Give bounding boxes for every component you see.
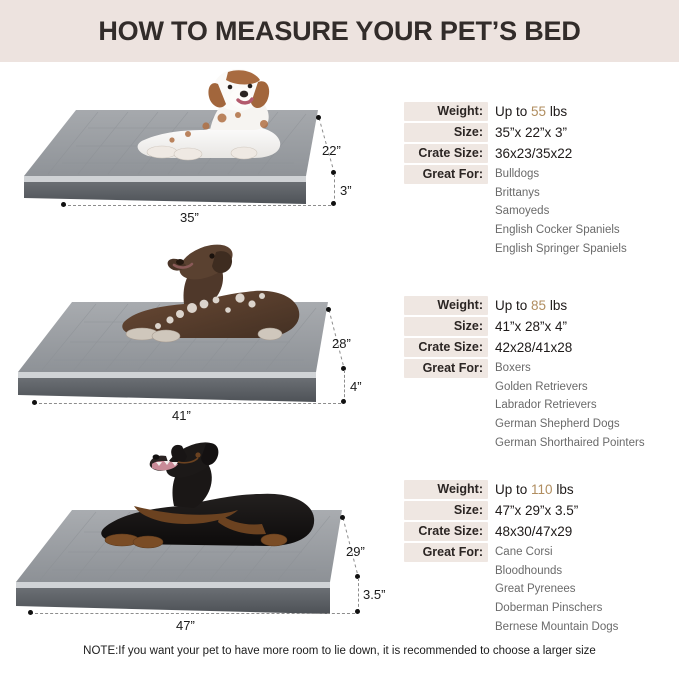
dimension-label-height-3: 3.5” [363, 587, 385, 602]
spec-label-size: Size: [404, 317, 488, 336]
dimension-dot [28, 610, 33, 615]
dimension-line-length-2 [34, 403, 341, 404]
spec-row-size: Size: 35”x 22”x 3” [404, 123, 679, 142]
dimension-label-height-1: 3” [340, 183, 352, 198]
spec-label-weight: Weight: [404, 102, 488, 121]
dimension-label-length-3: 47” [176, 618, 195, 633]
spec-value-crate-size: 36x23/35x22 [488, 144, 572, 163]
spec-row-size: Size: 47”x 29”x 3.5” [404, 501, 679, 520]
spec-row-weight: Weight: Up to 55 lbs [404, 102, 679, 121]
dimension-line-length-1 [63, 205, 331, 206]
weight-value: 85 [531, 298, 546, 313]
spec-value-crate-size: 48x30/47x29 [488, 522, 572, 541]
weight-suffix: lbs [546, 298, 567, 313]
spec-label-size: Size: [404, 501, 488, 520]
dimension-label-length-1: 35” [180, 210, 199, 225]
bed-illustration-1: 22” 3” 35” [0, 66, 400, 242]
weight-value: 55 [531, 104, 546, 119]
bed-size-section-1: 22” 3” 35” Weight: Up to 55 lbs Size: 35… [0, 66, 679, 242]
spec-value-crate-size: 42x28/41x28 [488, 338, 572, 357]
dimension-label-length-2: 41” [172, 408, 191, 423]
breed-item: Bernese Mountain Dogs [495, 618, 618, 637]
spec-value-size: 35”x 22”x 3” [488, 123, 567, 142]
spec-row-crate: Crate Size: 42x28/41x28 [404, 338, 679, 357]
spec-value-size: 41”x 28”x 4” [488, 317, 567, 336]
bed-illustration-2: 28” 4” 41” [0, 234, 400, 424]
dimension-label-height-2: 4” [350, 379, 362, 394]
weight-suffix: lbs [553, 482, 574, 497]
breed-item: Brittanys [495, 184, 627, 203]
spec-row-crate: Crate Size: 36x23/35x22 [404, 144, 679, 163]
spec-label-weight: Weight: [404, 480, 488, 499]
breed-item: Labrador Retrievers [495, 396, 645, 415]
weight-prefix: Up to [495, 104, 531, 119]
page-title: HOW TO MEASURE YOUR PET’S BED [98, 16, 580, 47]
bed-size-section-2: 28” 4” 41” Weight: Up to 85 lbs Size: 41… [0, 234, 679, 424]
bed-illustration-3: 29” 3.5” 47” [0, 424, 400, 638]
breed-item: Great Pyrenees [495, 580, 618, 599]
dimension-dot [341, 399, 346, 404]
spec-label-crate-size: Crate Size: [404, 338, 488, 357]
weight-suffix: lbs [546, 104, 567, 119]
spec-value-weight: Up to 85 lbs [488, 296, 567, 315]
weight-value: 110 [531, 482, 553, 497]
spec-value-weight: Up to 55 lbs [488, 102, 567, 121]
spec-label-size: Size: [404, 123, 488, 142]
weight-prefix: Up to [495, 482, 531, 497]
spec-label-crate-size: Crate Size: [404, 522, 488, 541]
breed-item: Doberman Pinschers [495, 599, 618, 618]
dimension-line-height-3 [358, 578, 359, 612]
spec-value-weight: Up to 110 lbs [488, 480, 574, 499]
dimension-line-height-2 [344, 370, 345, 402]
dimension-dot [331, 201, 336, 206]
page-header: HOW TO MEASURE YOUR PET’S BED [0, 0, 679, 62]
bed-size-section-3: 29” 3.5” 47” Weight: Up to 110 lbs Size:… [0, 424, 679, 638]
breed-item: Bulldogs [495, 165, 627, 184]
dimension-dot [316, 115, 321, 120]
breed-item: Samoyeds [495, 202, 627, 221]
spec-row-great-for: Great For: Cane Corsi Bloodhounds Great … [404, 543, 679, 637]
spec-row-weight: Weight: Up to 85 lbs [404, 296, 679, 315]
spec-label-great-for: Great For: [404, 359, 488, 378]
breed-item: Boxers [495, 359, 645, 378]
spec-label-crate-size: Crate Size: [404, 144, 488, 163]
dimension-label-width-1: 22” [322, 143, 341, 158]
dimension-dot [61, 202, 66, 207]
dog-graphic-doberman [70, 438, 330, 558]
dimension-label-width-3: 29” [346, 544, 365, 559]
spec-label-weight: Weight: [404, 296, 488, 315]
dimension-dot [326, 307, 331, 312]
dimension-dot [355, 609, 360, 614]
dimension-dot [32, 400, 37, 405]
spec-row-weight: Weight: Up to 110 lbs [404, 480, 679, 499]
breed-item: Bloodhounds [495, 562, 618, 581]
spec-label-great-for: Great For: [404, 543, 488, 562]
spec-row-size: Size: 41”x 28”x 4” [404, 317, 679, 336]
dimension-dot [340, 515, 345, 520]
breed-list-3: Cane Corsi Bloodhounds Great Pyrenees Do… [488, 543, 618, 637]
footer-note: NOTE:If you want your pet to have more r… [0, 645, 679, 657]
spec-row-crate: Crate Size: 48x30/47x29 [404, 522, 679, 541]
dog-graphic-pointer [88, 238, 318, 350]
weight-prefix: Up to [495, 298, 531, 313]
breed-item: Golden Retrievers [495, 378, 645, 397]
dog-graphic-brittany [118, 68, 308, 163]
dimension-label-width-2: 28” [332, 336, 351, 351]
spec-value-size: 47”x 29”x 3.5” [488, 501, 578, 520]
spec-label-great-for: Great For: [404, 165, 488, 184]
breed-item: Cane Corsi [495, 543, 618, 562]
dimension-line-length-3 [30, 613, 355, 614]
dimension-line-height-1 [334, 174, 335, 204]
